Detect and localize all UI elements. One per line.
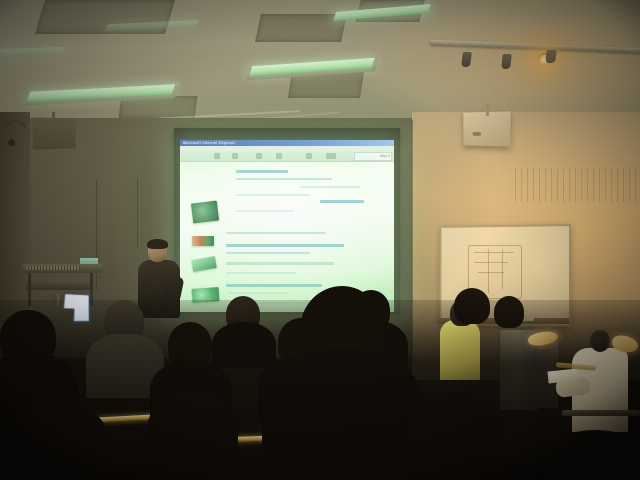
- slide-text-line: [226, 232, 326, 234]
- home-icon[interactable]: [306, 153, 312, 159]
- av-rack-shelf: [26, 282, 92, 290]
- slide-text-line: [226, 284, 322, 287]
- audience-head: [494, 296, 524, 328]
- wall-speaker-right: [463, 111, 510, 146]
- cable-knob: [8, 139, 15, 146]
- audience-member: [440, 320, 480, 380]
- whiteboard-mark: [488, 249, 489, 293]
- sign-stencil-overlay: [510, 168, 640, 202]
- slide-text-line: [236, 210, 294, 212]
- photo-scene: DIGITAL HOLLYW Microsoft Internet Explor…: [0, 0, 640, 480]
- stop-icon[interactable]: [256, 153, 262, 159]
- attendee-head: [590, 330, 610, 352]
- slide-text-line: [226, 252, 310, 254]
- av-control-panel: [26, 266, 80, 270]
- audience-shoulders: [212, 322, 276, 368]
- slide-text-line: [236, 194, 310, 196]
- slide-text-line: [236, 178, 332, 180]
- speaker-mount: [52, 112, 55, 121]
- projection-screen: Microsoft Internet Explorer http://: [180, 140, 394, 312]
- presenter-hair: [147, 239, 168, 249]
- whiteboard-mark: [474, 252, 514, 253]
- product-thumbnail[interactable]: [191, 200, 219, 223]
- forward-icon[interactable]: [232, 153, 238, 159]
- slide-text-line: [300, 186, 360, 188]
- whiteboard-mark: [478, 272, 504, 273]
- audience-head: [454, 288, 490, 324]
- address-bar-value: http://: [380, 152, 390, 159]
- audience-head-foreground: [0, 400, 110, 480]
- slide-text-line: [320, 200, 364, 203]
- product-thumbnail[interactable]: [192, 236, 214, 246]
- ceiling-tile: [35, 0, 175, 34]
- venue-sign: DIGITAL HOLLYW: [510, 168, 640, 202]
- chair-frame: [562, 410, 640, 416]
- refresh-icon[interactable]: [276, 153, 282, 159]
- back-icon[interactable]: [214, 153, 220, 159]
- slide-text-line: [226, 272, 296, 274]
- slide-text-line: [226, 292, 288, 294]
- slide-text-line: [236, 170, 288, 173]
- speaker-mount: [486, 104, 489, 116]
- search-icon[interactable]: [326, 153, 336, 159]
- slide-text-line: [226, 244, 344, 247]
- wall-speaker-left: [33, 117, 76, 149]
- slide-text-line: [226, 262, 334, 265]
- whiteboard-mark: [502, 249, 503, 289]
- wall-seam: [137, 178, 138, 248]
